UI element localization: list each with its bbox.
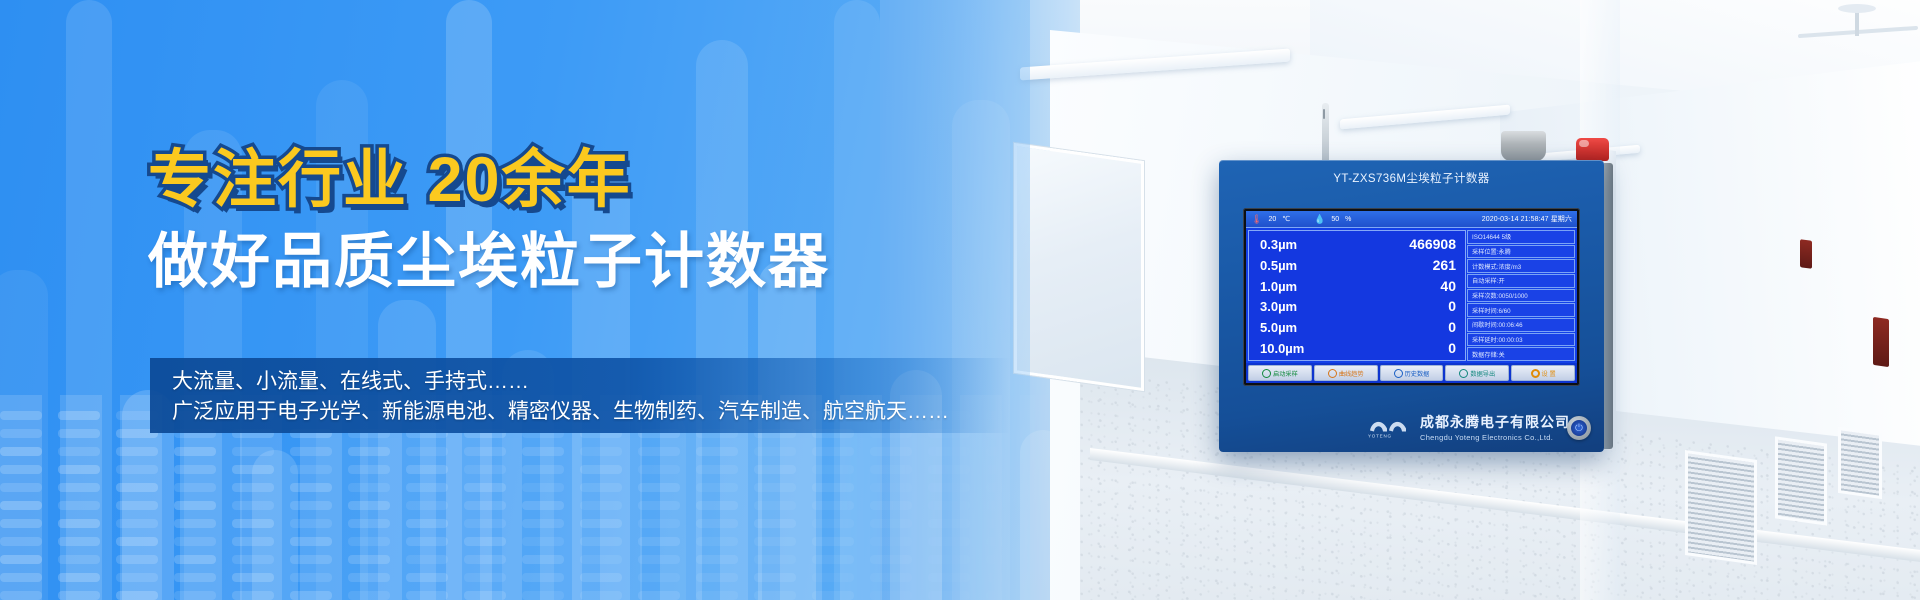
parameter-item: ISO14644 5级 bbox=[1467, 230, 1575, 244]
channel-size-label: 1.0µm bbox=[1260, 279, 1297, 294]
chart-curve-icon bbox=[1328, 369, 1337, 378]
particle-counter-device: YT-ZXS736M尘埃粒子计数器 🌡 20 ℃ 💧 50 % 2020-03-… bbox=[1219, 160, 1604, 452]
channel-size-label: 10.0µm bbox=[1260, 341, 1304, 356]
caption-line-2: 广泛应用于电子光学、新能源电池、精密仪器、生物制药、汽车制造、航空航天…… bbox=[172, 397, 1010, 427]
particle-channel-row: 10.0µm0 bbox=[1260, 340, 1456, 356]
humidity-unit: % bbox=[1345, 216, 1351, 223]
export-arrow-icon bbox=[1459, 369, 1468, 378]
parameter-item: 自动采样:开 bbox=[1467, 274, 1575, 288]
device-model-label: YT-ZXS736M尘埃粒子计数器 bbox=[1219, 170, 1604, 186]
brand-logo-row: YOTENG 成都永腾电子有限公司 Chengdu Yoteng Electro… bbox=[1367, 412, 1570, 442]
channel-size-label: 0.5µm bbox=[1260, 258, 1297, 273]
power-button[interactable]: ⏻ bbox=[1567, 416, 1591, 440]
gear-icon bbox=[1531, 369, 1540, 378]
photo-air-vent bbox=[1685, 450, 1757, 565]
hero-banner: 专注行业 20余年 做好品质尘埃粒子计数器 大流量、小流量、在线式、手持式…… … bbox=[0, 0, 1920, 600]
page-title: 专注行业 20余年 bbox=[148, 129, 632, 220]
device-screen-bezel: 🌡 20 ℃ 💧 50 % 2020-03-14 21:58:47 星期六 0.… bbox=[1243, 208, 1580, 386]
photo-pendant-disc bbox=[1838, 4, 1876, 13]
hero-copy: 专注行业 20余年 做好品质尘埃粒子计数器 大流量、小流量、在线式、手持式…… … bbox=[0, 0, 1060, 600]
record-circle-icon bbox=[1262, 369, 1271, 378]
channel-count-value: 261 bbox=[1433, 257, 1456, 273]
parameter-item: 数据存储:关 bbox=[1467, 347, 1575, 361]
channel-count-value: 40 bbox=[1440, 278, 1456, 294]
antenna-icon bbox=[1322, 103, 1329, 161]
brand-name-cn: 成都永腾电子有限公司 bbox=[1420, 412, 1570, 432]
screen-button-3[interactable]: 历史数据 bbox=[1380, 365, 1444, 381]
device-screen[interactable]: 🌡 20 ℃ 💧 50 % 2020-03-14 21:58:47 星期六 0.… bbox=[1246, 211, 1577, 383]
screen-button-1[interactable]: 启动采样 bbox=[1248, 365, 1312, 381]
screen-button-5[interactable]: 设 置 bbox=[1511, 365, 1575, 381]
device-front-panel: YT-ZXS736M尘埃粒子计数器 🌡 20 ℃ 💧 50 % 2020-03-… bbox=[1219, 160, 1604, 452]
particle-channel-row: 1.0µm40 bbox=[1260, 278, 1456, 294]
parameter-item: 采样位置:永腾 bbox=[1467, 245, 1575, 259]
page-subtitle: 做好品质尘埃粒子计数器 bbox=[148, 213, 830, 300]
channel-count-value: 0 bbox=[1448, 340, 1456, 356]
screen-button-label: 启动采样 bbox=[1273, 369, 1298, 378]
channel-size-label: 5.0µm bbox=[1260, 320, 1297, 335]
svg-text:YOTENG: YOTENG bbox=[1368, 434, 1392, 439]
channel-size-label: 3.0µm bbox=[1260, 299, 1297, 314]
photo-wall-fixture bbox=[1800, 239, 1812, 269]
alarm-lamp bbox=[1576, 138, 1609, 161]
water-drop-icon: 💧 bbox=[1314, 215, 1325, 224]
parameter-item: 采样时间:6/60 bbox=[1467, 303, 1575, 317]
screen-button-label: 设 置 bbox=[1542, 369, 1556, 378]
channel-count-value: 0 bbox=[1448, 319, 1456, 335]
parameter-item: 采样次数:0050/1000 bbox=[1467, 289, 1575, 303]
particle-channel-list: 0.3µm4669080.5µm2611.0µm403.0µm05.0µm010… bbox=[1248, 230, 1466, 361]
yoteng-logo-icon: YOTENG bbox=[1367, 415, 1413, 439]
photo-air-vent bbox=[1775, 436, 1827, 525]
device-side-panel bbox=[1604, 163, 1613, 449]
metal-knob bbox=[1501, 131, 1546, 161]
parameter-item: 采样延时:00:00:03 bbox=[1467, 333, 1575, 347]
caption-line-1: 大流量、小流量、在线式、手持式…… bbox=[172, 367, 1010, 397]
power-button-icon: ⏻ bbox=[1571, 420, 1587, 436]
parameter-list: ISO14644 5级采样位置:永腾计数模式:浓度/m3自动采样:开采样次数:0… bbox=[1467, 230, 1575, 361]
parameter-item: 计数模式:浓度/m3 bbox=[1467, 259, 1575, 273]
history-list-icon bbox=[1394, 369, 1403, 378]
parameter-item: 间歇时间:00:06:46 bbox=[1467, 318, 1575, 332]
screen-button-4[interactable]: 数据导出 bbox=[1445, 365, 1509, 381]
particle-channel-row: 5.0µm0 bbox=[1260, 319, 1456, 335]
screen-button-bar: 启动采样曲线趋势历史数据数据导出设 置 bbox=[1246, 363, 1577, 383]
channel-count-value: 0 bbox=[1448, 298, 1456, 314]
photo-air-vent bbox=[1838, 427, 1882, 499]
screen-button-2[interactable]: 曲线趋势 bbox=[1314, 365, 1378, 381]
channel-size-label: 0.3µm bbox=[1260, 237, 1297, 252]
temperature-unit: ℃ bbox=[1282, 215, 1290, 223]
caption-box: 大流量、小流量、在线式、手持式…… 广泛应用于电子光学、新能源电池、精密仪器、生… bbox=[150, 358, 1010, 433]
screen-button-label: 数据导出 bbox=[1470, 369, 1495, 378]
photo-wall-fixture bbox=[1873, 317, 1889, 367]
particle-channel-row: 3.0µm0 bbox=[1260, 298, 1456, 314]
channel-count-value: 466908 bbox=[1409, 236, 1456, 252]
screen-status-bar: 🌡 20 ℃ 💧 50 % 2020-03-14 21:58:47 星期六 bbox=[1246, 211, 1577, 228]
thermometer-icon: 🌡 bbox=[1251, 215, 1262, 224]
particle-channel-row: 0.5µm261 bbox=[1260, 257, 1456, 273]
screen-button-label: 历史数据 bbox=[1405, 369, 1430, 378]
screen-main-area: 0.3µm4669080.5µm2611.0µm403.0µm05.0µm010… bbox=[1246, 228, 1577, 363]
screen-button-label: 曲线趋势 bbox=[1339, 369, 1364, 378]
brand-name-en: Chengdu Yoteng Electronics Co.,Ltd. bbox=[1420, 433, 1570, 442]
humidity-value: 50 bbox=[1331, 216, 1339, 223]
temperature-value: 20 bbox=[1268, 216, 1276, 223]
particle-channel-row: 0.3µm466908 bbox=[1260, 236, 1456, 252]
screen-datetime: 2020-03-14 21:58:47 星期六 bbox=[1482, 214, 1572, 224]
